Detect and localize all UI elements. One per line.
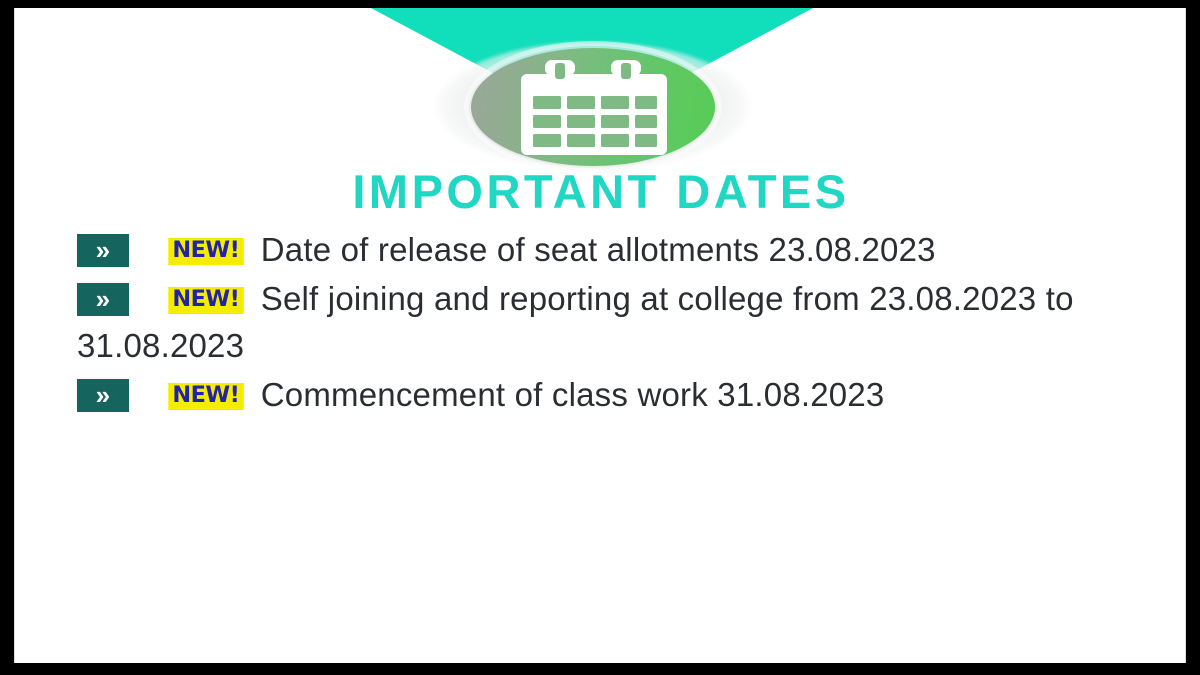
important-dates-list: »NEW!Date of release of seat allotments … <box>77 226 1137 420</box>
double-chevron-icon: » <box>77 379 129 412</box>
new-badge: NEW! <box>168 238 243 265</box>
list-item-text: Date of release of seat allotments 23.08… <box>261 231 936 268</box>
double-chevron-icon: » <box>77 283 129 316</box>
list-item: »NEW!Self joining and reporting at colle… <box>77 275 1137 369</box>
list-item-text: Commencement of class work 31.08.2023 <box>261 376 885 413</box>
screenshot-frame: IMPORTANT DATES »NEW!Date of release of … <box>0 0 1200 675</box>
new-badge: NEW! <box>168 383 243 410</box>
double-chevron-icon: » <box>77 234 129 267</box>
important-dates-card: IMPORTANT DATES »NEW!Date of release of … <box>14 8 1186 663</box>
list-item: »NEW!Commencement of class work 31.08.20… <box>77 371 1137 418</box>
new-badge: NEW! <box>168 287 243 314</box>
list-item: »NEW!Date of release of seat allotments … <box>77 226 1137 273</box>
page-title: IMPORTANT DATES <box>15 164 1186 219</box>
calendar-icon <box>519 60 669 155</box>
